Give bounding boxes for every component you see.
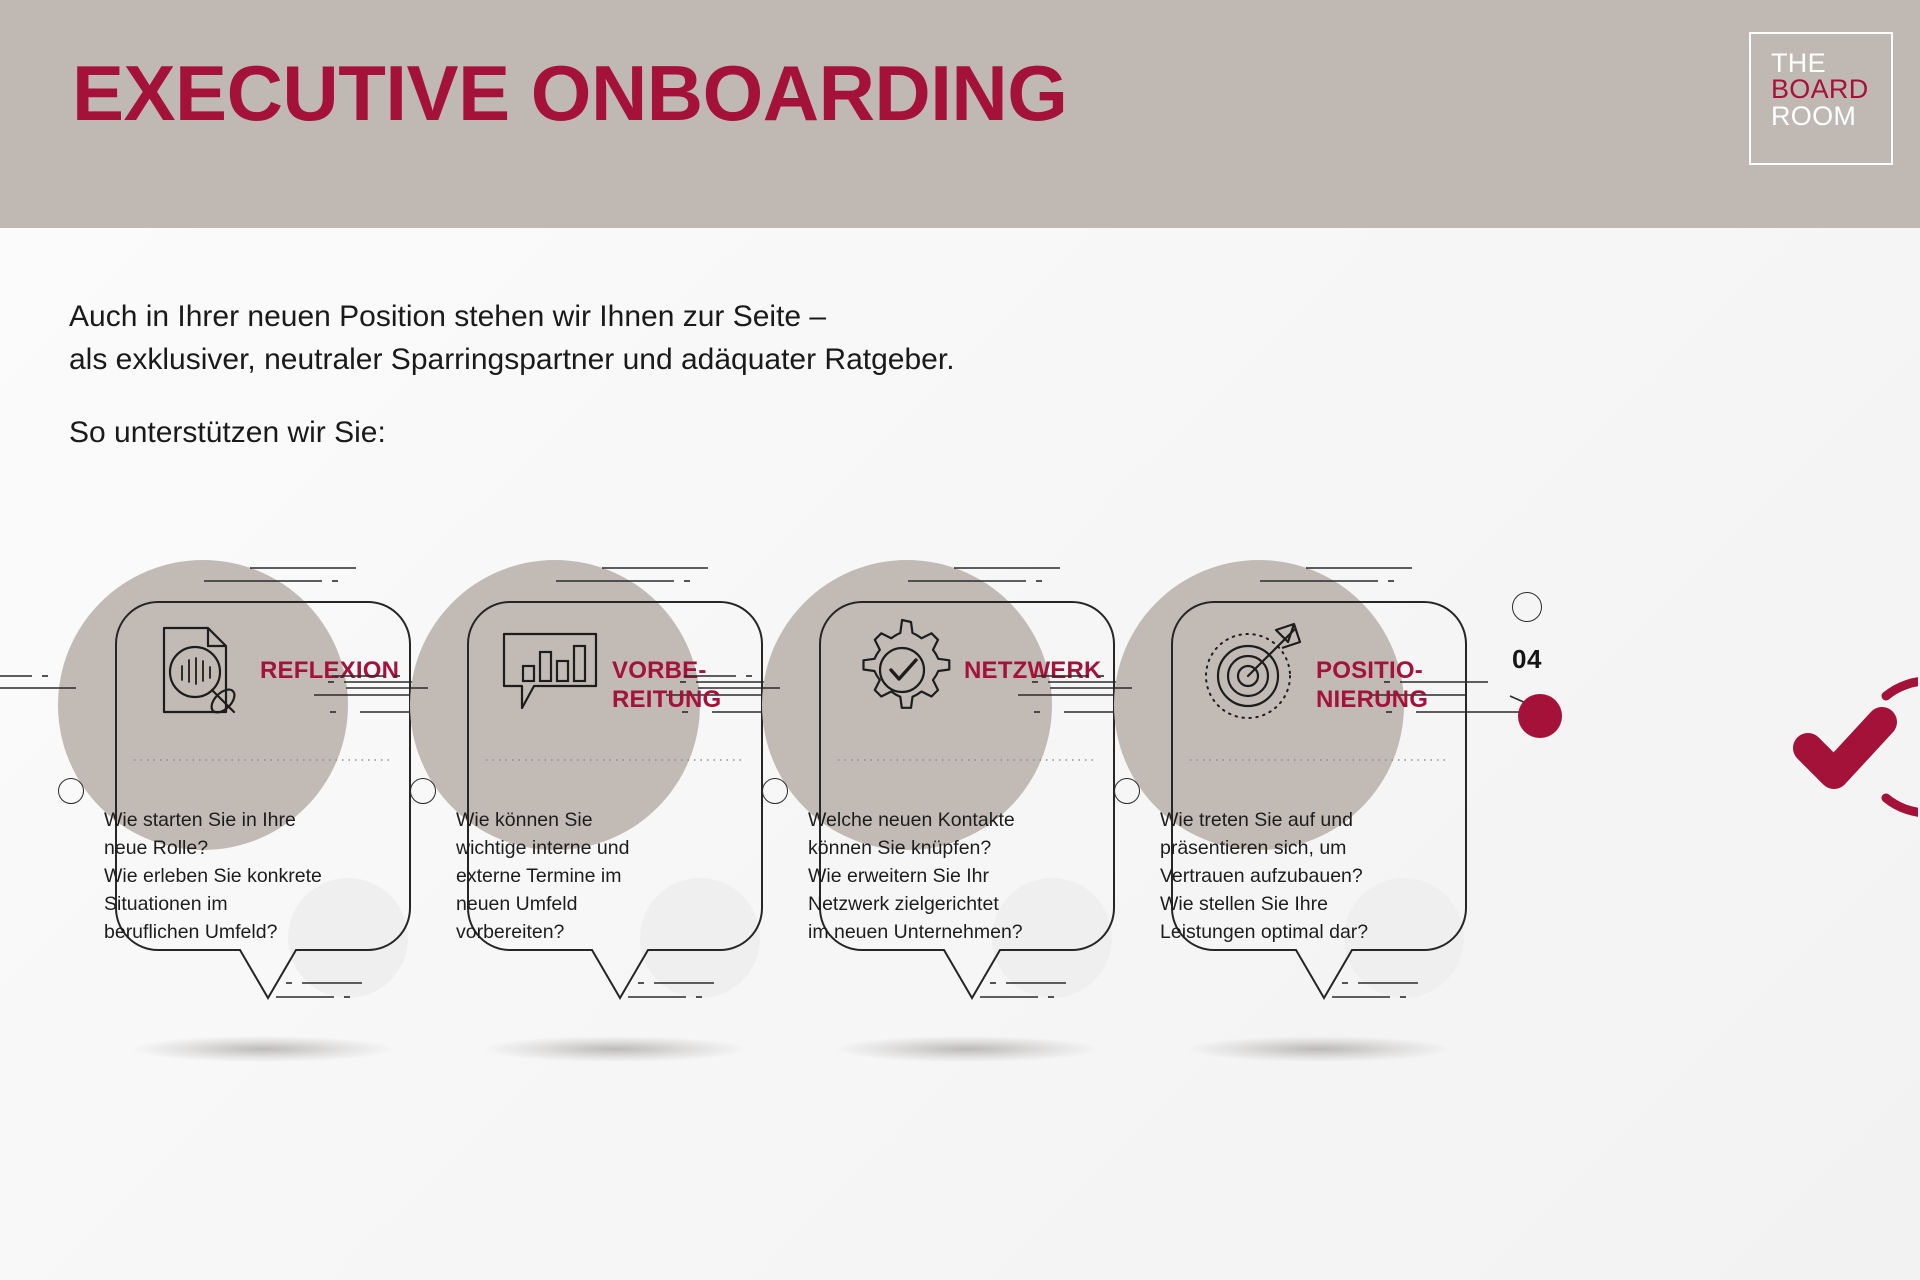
decorative-lines-top	[908, 562, 1068, 596]
decorative-lines-top	[1260, 562, 1420, 596]
step-body-line: Wie erweitern Sie Ihr	[808, 862, 1058, 890]
step-body-line: können Sie knüpfen?	[808, 834, 1058, 862]
decorative-rail-left	[332, 670, 472, 692]
decorative-rail-left	[684, 670, 824, 692]
step-drop-shadow	[837, 1036, 1097, 1062]
step-body-line: Wie erleben Sie konkrete	[104, 862, 354, 890]
check-circle-icon	[1768, 672, 1918, 822]
step-drop-shadow	[133, 1036, 393, 1062]
step-body-text: Wie können Siewichtige interne undextern…	[456, 806, 706, 946]
decorative-rail-left	[0, 670, 120, 692]
step-label: POSITIO-NIERUNG	[1316, 656, 1466, 715]
step-body-line: neuen Umfeld	[456, 890, 706, 918]
step-body-line: vorbereiten?	[456, 918, 706, 946]
decorative-lines-bottom	[628, 976, 748, 1010]
step-body-line: Wie starten Sie in Ihre	[104, 806, 354, 834]
decorative-circle-outline	[1512, 592, 1542, 622]
step-body-line: neue Rolle?	[104, 834, 354, 862]
step-body-text: Welche neuen Kontaktekönnen Sie knüpfen?…	[808, 806, 1058, 946]
step-body-line: Wie treten Sie auf und	[1160, 806, 1410, 834]
step-body-line: Wie können Sie	[456, 806, 706, 834]
target-arrow-icon	[1198, 614, 1310, 726]
step-body-line: beruflichen Umfeld?	[104, 918, 354, 946]
decorative-circle-outline-small	[762, 778, 788, 804]
decorative-circle-outline-small	[1114, 778, 1140, 804]
decorative-lines-top	[204, 562, 364, 596]
step-body-text: Wie treten Sie auf undpräsentieren sich,…	[1160, 806, 1410, 946]
step-drop-shadow	[485, 1036, 745, 1062]
decorative-circle-outline-small	[58, 778, 84, 804]
step-body-line: externe Termine im	[456, 862, 706, 890]
decorative-circle-outline-small	[410, 778, 436, 804]
step-label-line: POSITIO-	[1316, 656, 1466, 685]
step-arrow-marker[interactable]	[1518, 694, 1562, 738]
document-magnifier-icon	[142, 614, 254, 726]
step-body-line: wichtige interne und	[456, 834, 706, 862]
slide-canvas: EXECUTIVE ONBOARDING THE BOARD ROOM Auch…	[0, 0, 1920, 1280]
decorative-lines-bottom	[276, 976, 396, 1010]
step-body-line: Situationen im	[104, 890, 354, 918]
step-body-text: Wie starten Sie in Ihreneue Rolle?Wie er…	[104, 806, 354, 946]
decorative-lines-bottom	[1332, 976, 1452, 1010]
step-body-line: Welche neuen Kontakte	[808, 806, 1058, 834]
chart-speech-bubble-icon	[494, 614, 606, 726]
decorative-rail-left	[1036, 670, 1176, 692]
step-body-line: Netzwerk zielgerichtet	[808, 890, 1058, 918]
decorative-lines-top	[556, 562, 716, 596]
process-step-04[interactable]: POSITIO-NIERUNG 04 Wie treten Sie auf un…	[1094, 548, 1534, 1108]
process-steps: REFLEXION 01 Wie starten Sie in Ihreneue…	[0, 0, 1920, 1280]
decorative-lines-bottom	[980, 976, 1100, 1010]
step-body-line: präsentieren sich, um	[1160, 834, 1410, 862]
step-body-line: Vertrauen aufzubauen?	[1160, 862, 1410, 890]
gear-check-icon	[846, 614, 958, 726]
step-body-line: Leistungen optimal dar?	[1160, 918, 1410, 946]
step-drop-shadow	[1189, 1036, 1449, 1062]
step-body-line: Wie stellen Sie Ihre	[1160, 890, 1410, 918]
step-body-line: im neuen Unternehmen?	[808, 918, 1058, 946]
step-number: 04	[1512, 644, 1542, 675]
step-label-line: NIERUNG	[1316, 685, 1466, 714]
